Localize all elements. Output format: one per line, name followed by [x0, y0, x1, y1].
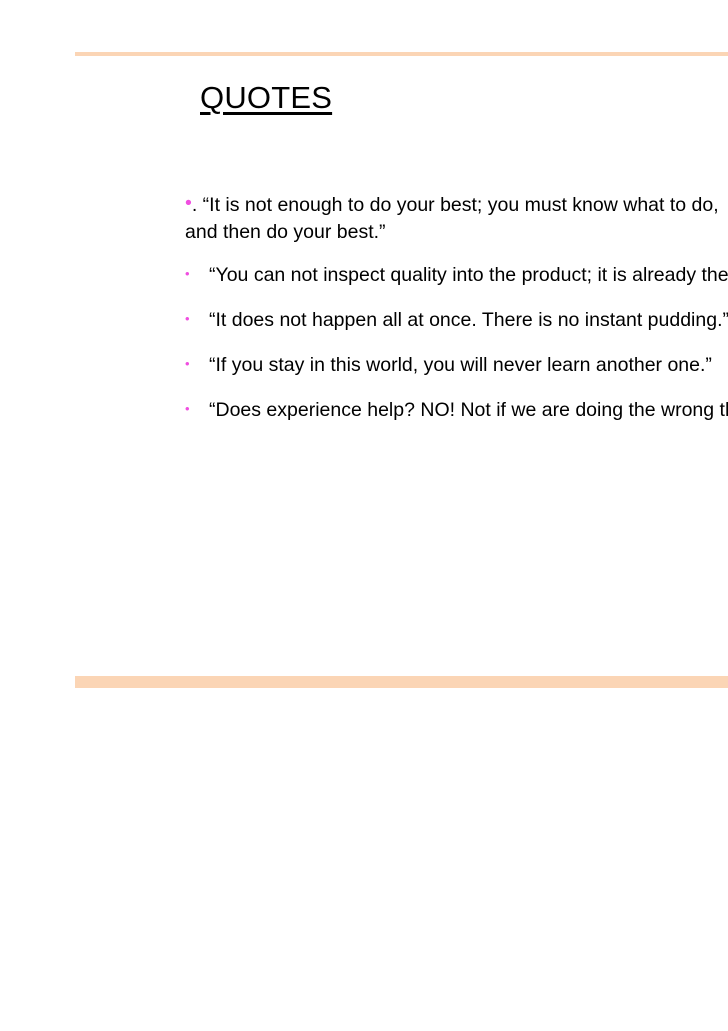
bottom-divider-rule	[75, 676, 728, 688]
quote-list: •. “It is not enough to do your best; yo…	[185, 192, 728, 423]
bullet-dot-icon: •	[185, 357, 209, 370]
bullet-prefix: .	[192, 194, 197, 216]
bullet-dot-icon: •	[185, 194, 192, 214]
quote-text: “Does experience help? NO! Not if we are…	[209, 399, 728, 421]
bullet-dot-icon: •	[185, 402, 209, 415]
quote-text: “It is not enough to do your best; you m…	[185, 194, 719, 243]
page-title: QUOTES	[200, 80, 720, 116]
list-item: •“If you stay in this world, you will ne…	[185, 352, 728, 379]
top-divider-rule	[75, 52, 728, 56]
quote-text: “It does not happen all at once. There i…	[209, 309, 728, 331]
list-item: •“It does not happen all at once. There …	[185, 307, 728, 334]
list-item: •. “It is not enough to do your best; yo…	[185, 192, 728, 246]
quote-text: “You can not inspect quality into the pr…	[209, 264, 728, 286]
list-item: •“Does experience help? NO! Not if we ar…	[185, 397, 728, 424]
title-block: QUOTES	[200, 80, 720, 116]
quote-list-block: •. “It is not enough to do your best; yo…	[185, 192, 728, 423]
list-item: •“You can not inspect quality into the p…	[185, 262, 728, 289]
bullet-dot-icon: •	[185, 267, 209, 280]
slide-canvas: QUOTES •. “It is not enough to do your b…	[0, 0, 728, 1031]
bullet-dot-icon: •	[185, 312, 209, 325]
quote-text: “If you stay in this world, you will nev…	[209, 354, 712, 376]
